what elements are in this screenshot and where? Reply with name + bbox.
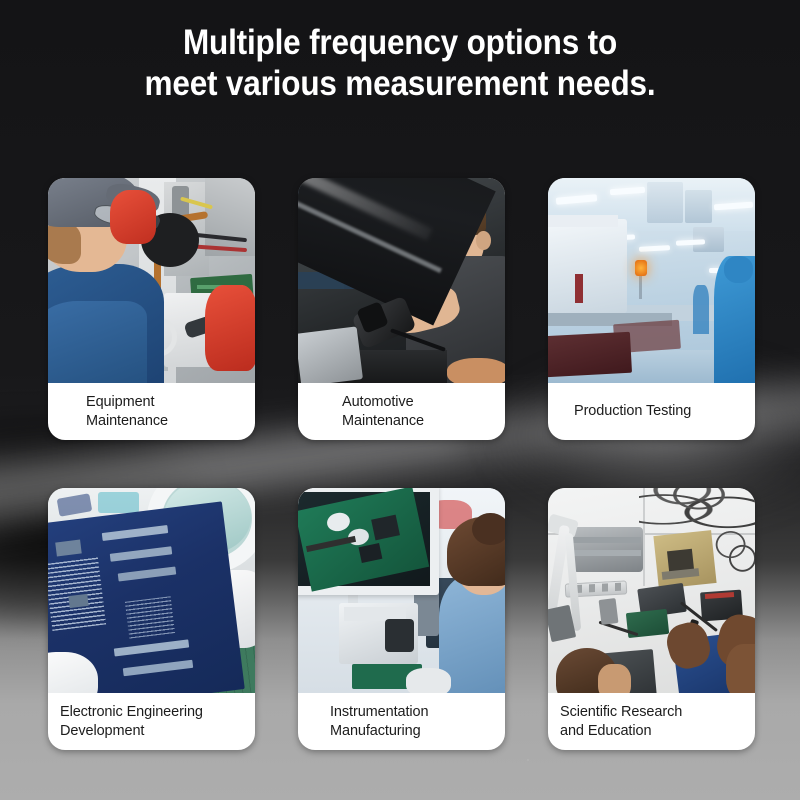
card-label-line-1: Production Testing xyxy=(574,402,743,421)
use-case-card-production-testing[interactable]: Production Testing xyxy=(548,178,755,440)
card-caption: Electronic Engineering Development xyxy=(48,693,255,750)
page-headline: Multiple frequency options to meet vario… xyxy=(0,0,800,105)
use-case-card-electronic-engineering-development[interactable]: Electronic Engineering Development xyxy=(48,488,255,750)
card-caption: Production Testing xyxy=(548,383,755,440)
electronic-engineering-photo xyxy=(48,488,255,693)
instrumentation-manufacturing-photo xyxy=(298,488,505,693)
production-testing-photo xyxy=(548,178,755,383)
card-label-line-2: Development xyxy=(60,722,243,741)
card-label-line-2: Manufacturing xyxy=(330,722,493,741)
use-case-card-automotive-maintenance[interactable]: Automotive Maintenance xyxy=(298,178,505,440)
card-caption: Equipment Maintenance xyxy=(48,383,255,440)
use-case-card-instrumentation-manufacturing[interactable]: Instrumentation Manufacturing xyxy=(298,488,505,750)
card-label-line-1: Electronic Engineering xyxy=(60,703,243,722)
card-label-line-2: Maintenance xyxy=(342,412,493,431)
card-label-line-1: Scientific Research xyxy=(560,703,743,722)
card-caption: Automotive Maintenance xyxy=(298,383,505,440)
card-label-line-2: and Education xyxy=(560,722,743,741)
headline-line-1: Multiple frequency options to xyxy=(40,22,760,63)
card-label-line-1: Automotive xyxy=(342,393,493,412)
equipment-maintenance-photo xyxy=(48,178,255,383)
scientific-research-photo xyxy=(548,488,755,693)
card-label-line-2: Maintenance xyxy=(86,412,243,431)
headline-line-2: meet various measurement needs. xyxy=(40,63,760,104)
automotive-maintenance-photo xyxy=(298,178,505,383)
card-caption: Scientific Research and Education xyxy=(548,693,755,750)
card-label-line-1: Equipment xyxy=(86,393,243,412)
card-caption: Instrumentation Manufacturing xyxy=(298,693,505,750)
use-case-card-grid: Equipment Maintenance Automotive Mainten… xyxy=(48,178,755,750)
card-label-line-1: Instrumentation xyxy=(330,703,493,722)
use-case-card-scientific-research-and-education[interactable]: Scientific Research and Education xyxy=(548,488,755,750)
use-case-card-equipment-maintenance[interactable]: Equipment Maintenance xyxy=(48,178,255,440)
